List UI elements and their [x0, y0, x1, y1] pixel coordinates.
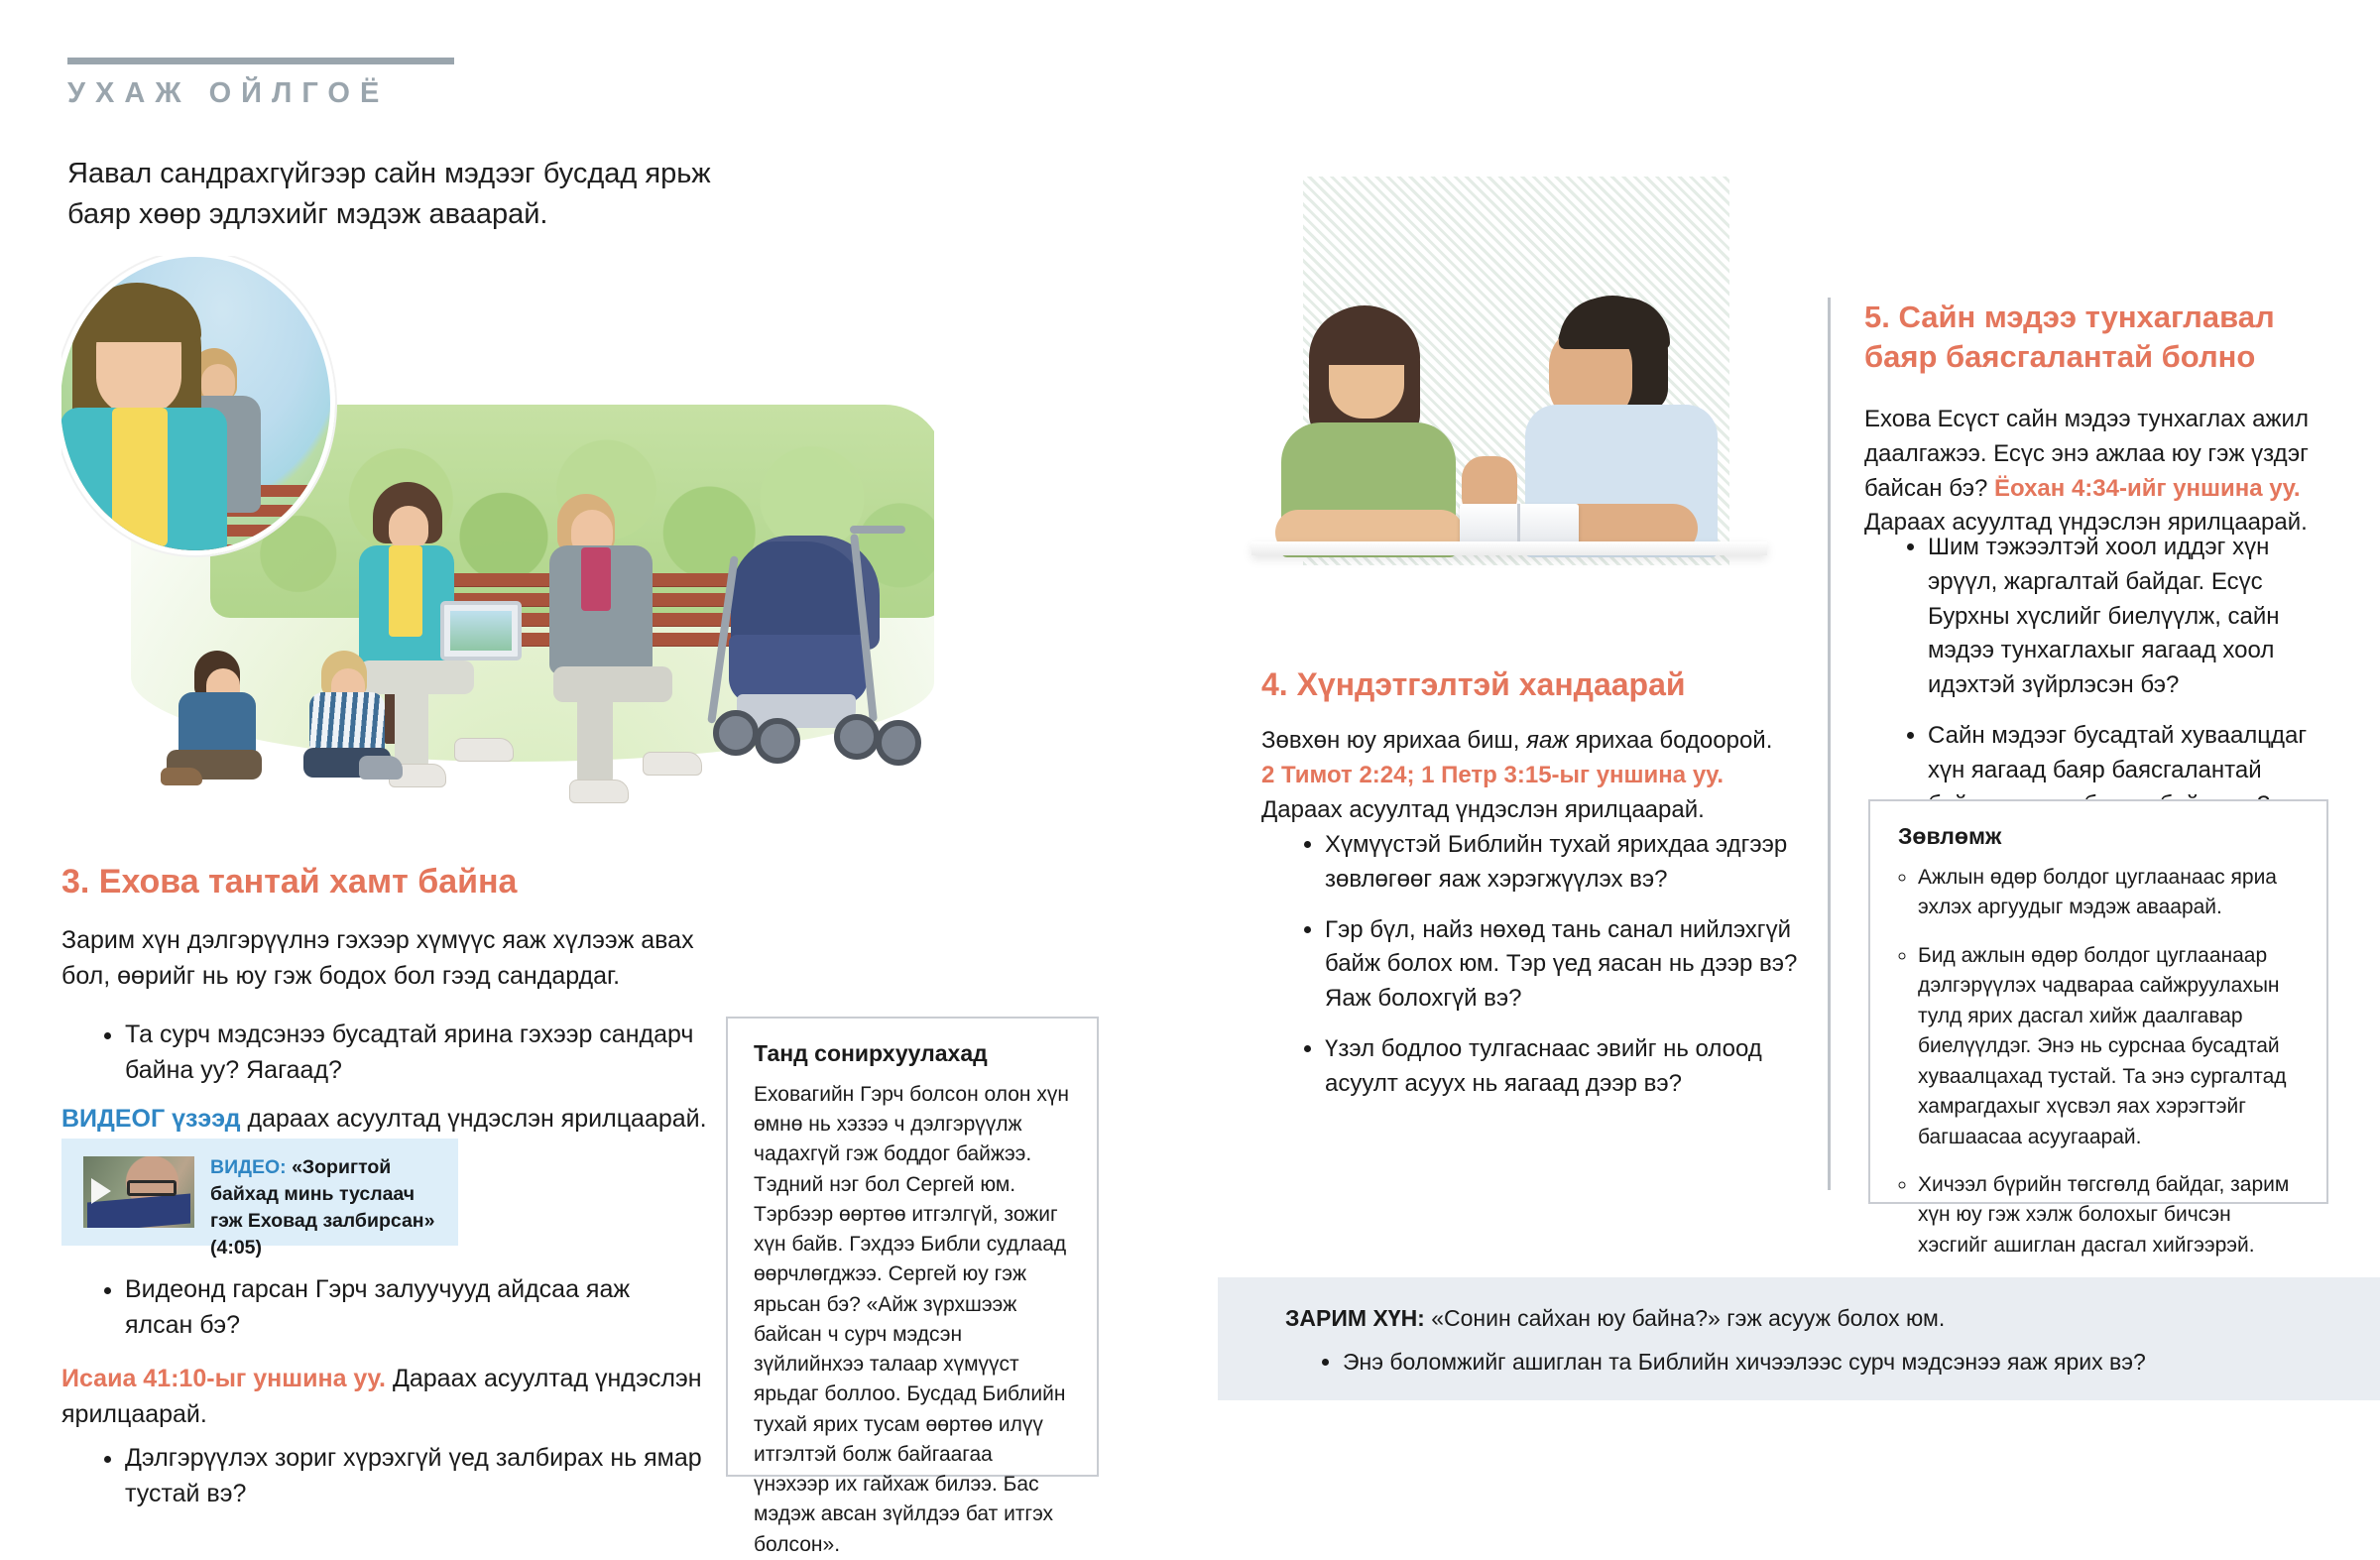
baby-stroller: [711, 516, 919, 764]
section4-body-tail: ярихаа бодоорой.: [1569, 727, 1773, 754]
section5-bullet-list: Шим тэжээлтэй хоол иддэг хүн эрүүл, жарг…: [1892, 531, 2328, 838]
scripture-rest: Дараах асуултад үндэслэн ярилцаарай.: [1261, 796, 1705, 823]
inset-scene-circle: [61, 256, 335, 555]
section4-body: Зөвхөн юу ярихаа биш, яаж ярихаа бодооро…: [1261, 724, 1797, 827]
play-icon[interactable]: [91, 1178, 111, 1204]
list-item: Хүмүүстэй Библийн тухай ярихдаа эдгээр з…: [1325, 828, 1805, 898]
advice-box: Зөвлөмж Ажлын өдөр болдог цуглаанаас яри…: [1868, 799, 2328, 1204]
advice-box-body: Ажлын өдөр болдог цуглаанаас яриа эхлэх …: [1884, 863, 2301, 1278]
table-surface: [1251, 541, 1767, 555]
section5-title: 5. Сайн мэдээ тунхаглавал баяр баясгалан…: [1864, 298, 2330, 378]
list-item: Дэлгэрүүлэх зориг хүрэхгүй үед залбирах …: [125, 1440, 704, 1512]
open-bible: [1460, 504, 1579, 545]
scripture-link[interactable]: 2 Тимот 2:24; 1 Петр 3:15-ыг уншина уу.: [1261, 762, 1724, 788]
section3-title: 3. Ехова тантай хамт байна: [61, 863, 756, 901]
video-caption: ВИДЕО: «Зоригтой байхад минь туслаач гэж…: [210, 1154, 444, 1261]
lesson-page: УХАЖ ОЙЛГОЁ Яавал сандрахгүйгээр сайн мэ…: [0, 0, 2380, 1530]
tip-box-title: Танд сонирхуулахад: [754, 1040, 988, 1067]
some-people-say-label: ЗАРИМ ХҮН:: [1285, 1305, 1425, 1331]
tip-box: Танд сонирхуулахад Еховагийн Гэрч болсон…: [726, 1017, 1099, 1477]
list-item: Хичээл бүрийн төгсгөлд байдаг, зарим хүн…: [1918, 1170, 2301, 1260]
section4-title: 4. Хүндэтгэлтэй хандаарай: [1261, 666, 1686, 703]
section3-bullet-list-1: Та сурч мэдсэнээ бусадтай ярина гэхээр с…: [89, 1017, 704, 1105]
section4-bullet-list: Хүмүүстэй Библийн тухай ярихдаа эдгээр з…: [1289, 828, 1805, 1118]
list-item: Үзэл бодлоо тулгаснаас эвийг нь олоод ас…: [1325, 1032, 1805, 1102]
right-column-divider: [1828, 298, 1831, 1190]
video-label: ВИДЕО:: [210, 1156, 287, 1178]
section3-scripture-line: Исаиа 41:10-ыг уншина уу. Дараах асуулта…: [61, 1361, 716, 1433]
video-link[interactable]: ВИДЕОГ үзээд: [61, 1105, 241, 1133]
list-item: Гэр бүл, найз нөхөд тань санал нийлэхгүй…: [1325, 913, 1805, 1017]
video-intro-rest: дараах асуултад үндэслэн ярилцаарай.: [241, 1105, 707, 1133]
couple-illustration: [1251, 177, 1767, 643]
section3-bullet-list-2: Видеонд гарсан Гэрч залуучууд айдсаа яаж…: [89, 1271, 704, 1360]
section4-body-italic: яаж: [1526, 727, 1569, 754]
intro-paragraph: Яавал сандрахгүйгээр сайн мэдээг бусдад …: [67, 154, 722, 235]
tablet-device: [440, 601, 522, 660]
list-item: Шим тэжээлтэй хоол иддэг хүн эрүүл, жарг…: [1928, 531, 2328, 703]
section3-body: Зарим хүн дэлгэрүүлнэ гэхээр хүмүүс яаж …: [61, 922, 696, 995]
list-item: Энэ боломжийг ашиглан та Библийн хичээлэ…: [1343, 1349, 2324, 1376]
list-item: Видеонд гарсан Гэрч залуучууд айдсаа яаж…: [125, 1271, 704, 1344]
section5-body: Ехова Есүст сайн мэдээ тунхаглах ажил да…: [1864, 403, 2320, 540]
scripture-link[interactable]: Ёохан 4:34-ийг уншина уу.: [1994, 475, 2301, 502]
some-people-say-bullets: Энэ боломжийг ашиглан та Библийн хичээлэ…: [1313, 1349, 2324, 1376]
some-people-say-line: ЗАРИМ ХҮН: «Сонин сайхан юу байна?» гэж …: [1285, 1305, 1945, 1332]
some-people-say-bar: ЗАРИМ ХҮН: «Сонин сайхан юу байна?» гэж …: [1218, 1277, 2380, 1400]
list-item: Та сурч мэдсэнээ бусадтай ярина гэхээр с…: [125, 1017, 704, 1089]
section3-bullet-list-3: Дэлгэрүүлэх зориг хүрэхгүй үед залбирах …: [89, 1440, 704, 1528]
section3-video-intro: ВИДЕОГ үзээд дараах асуултад үндэслэн яр…: [61, 1101, 736, 1137]
section4-body-lead: Зөвхөн юу ярихаа биш,: [1261, 727, 1526, 754]
advice-box-title: Зөвлөмж: [1898, 823, 2001, 850]
some-people-say-quote: «Сонин сайхан юу байна?» гэж асууж болох…: [1425, 1305, 1945, 1331]
video-card[interactable]: ВИДЕО: «Зоригтой байхад минь туслаач гэж…: [61, 1139, 458, 1246]
kicker-rule: [67, 58, 454, 64]
list-item: Ажлын өдөр болдог цуглаанаас яриа эхлэх …: [1918, 863, 2301, 923]
section-kicker: УХАЖ ОЙЛГОЁ: [67, 77, 389, 110]
scripture-link[interactable]: Исаиа 41:10-ыг уншина уу.: [61, 1365, 386, 1392]
video-thumbnail[interactable]: [83, 1156, 194, 1228]
list-item: Бид ажлын өдөр болдог цуглаанаар дэлгэрү…: [1918, 941, 2301, 1152]
park-illustration: [61, 256, 934, 811]
tip-box-body: Еховагийн Гэрч болсон олон хүн өмнө нь х…: [754, 1080, 1069, 1560]
